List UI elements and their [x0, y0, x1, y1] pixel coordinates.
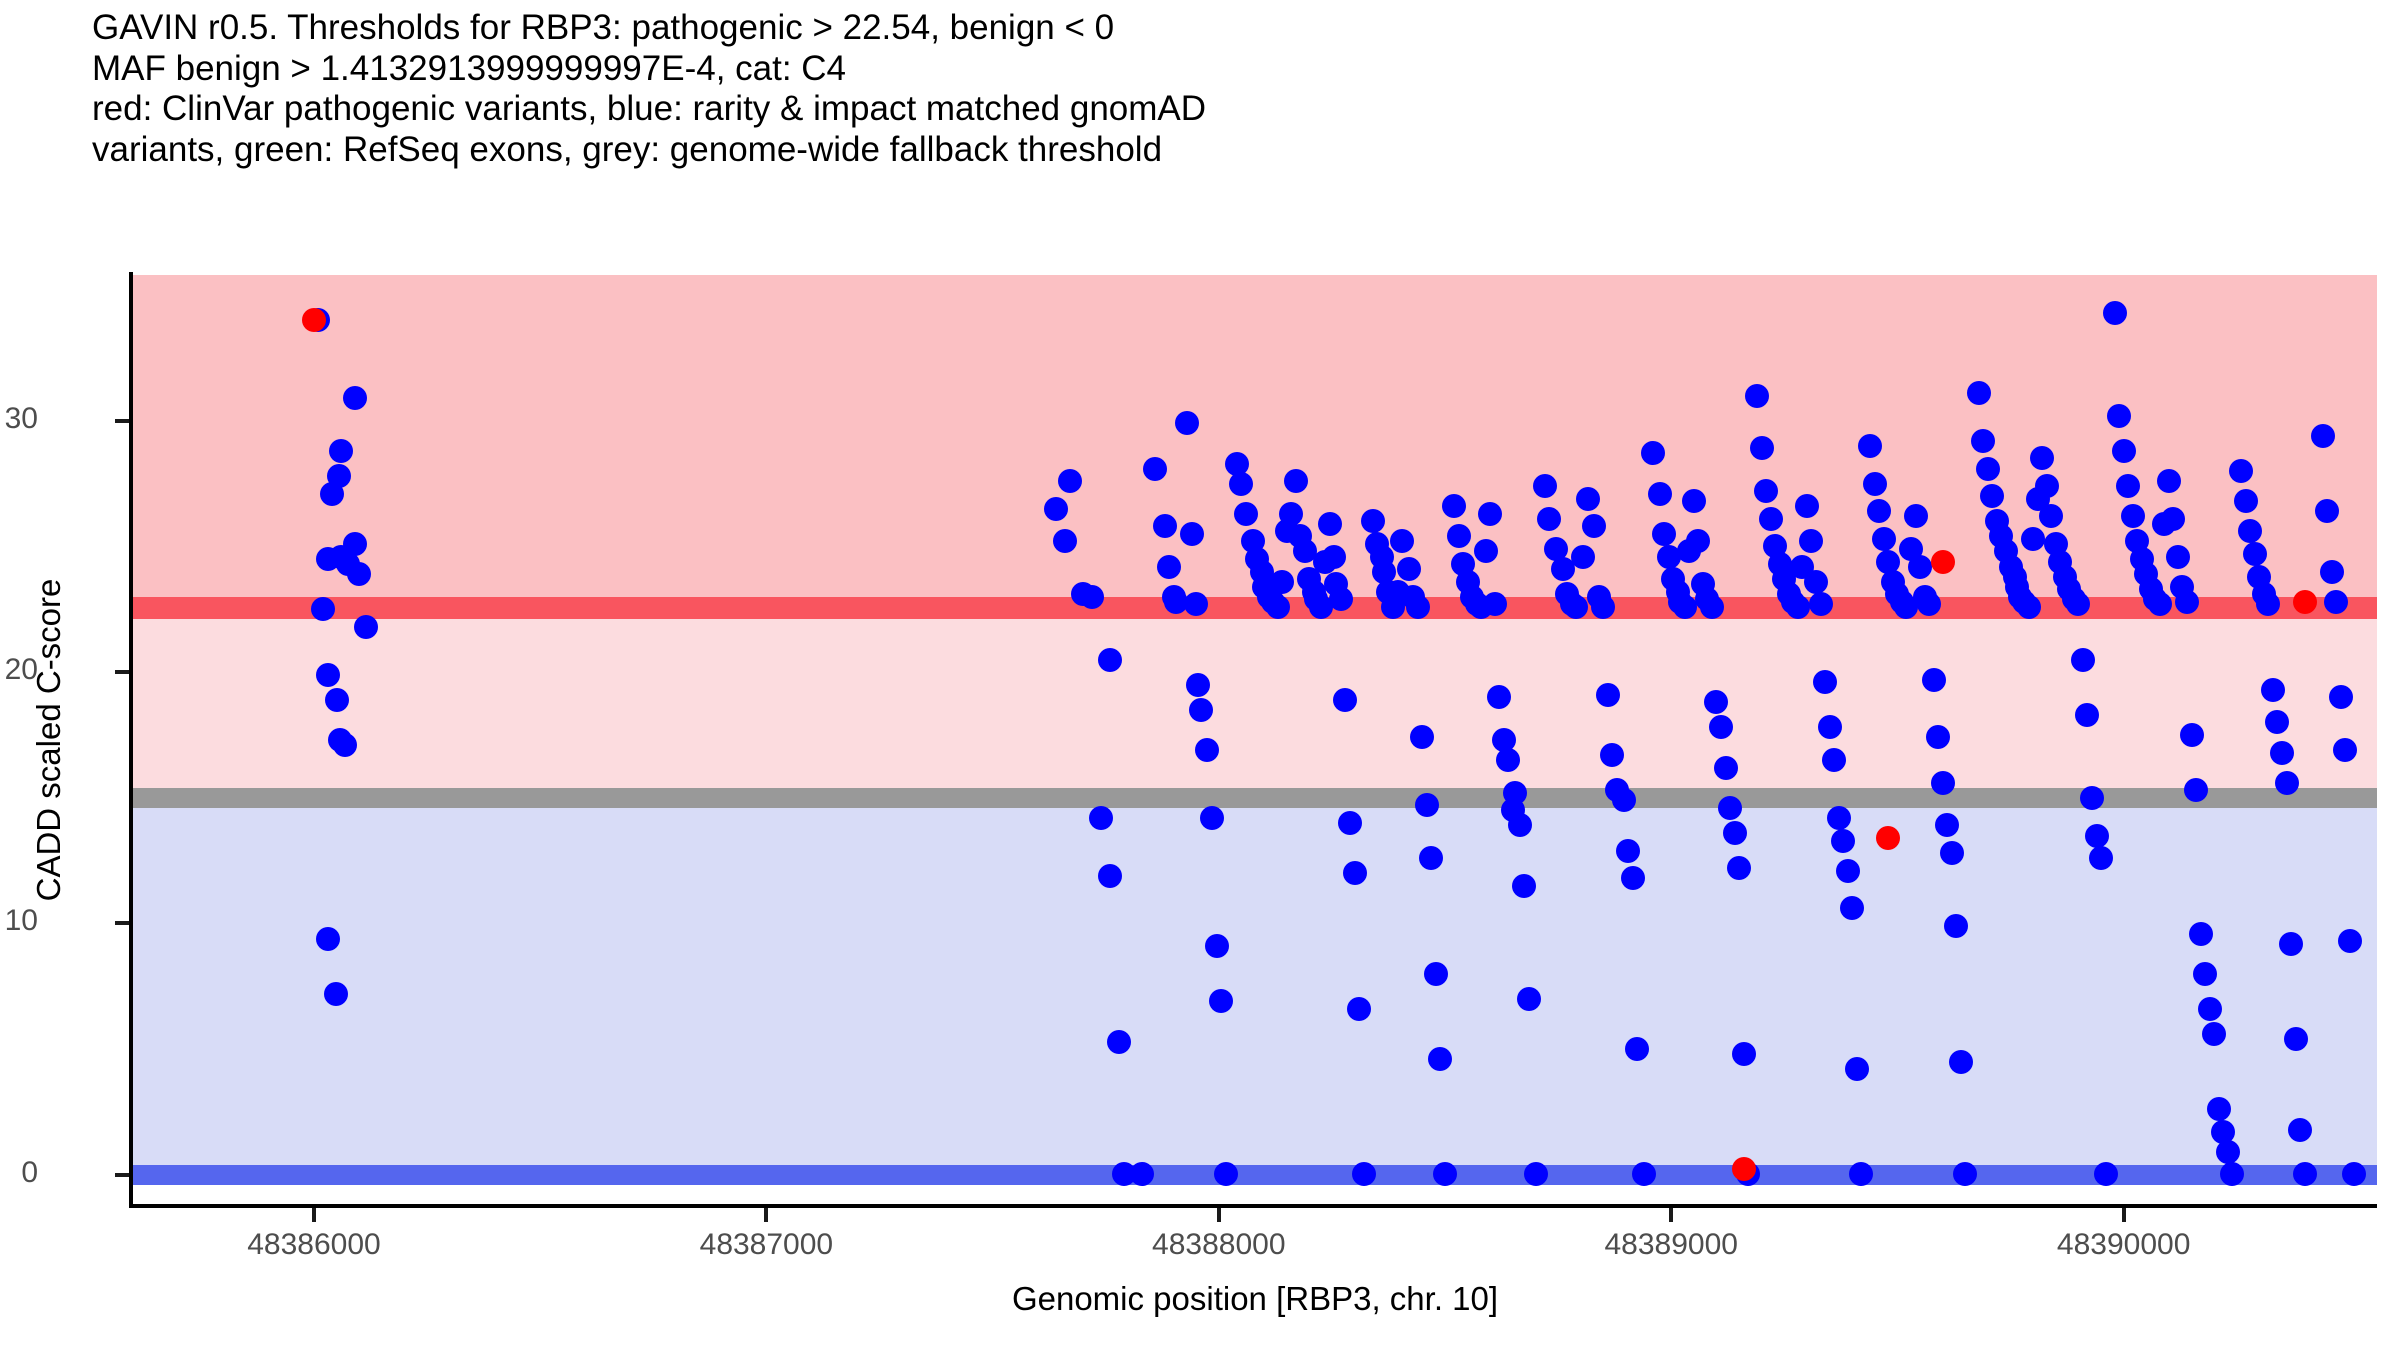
gnomad-variant-point [343, 386, 367, 410]
gnomad-variant-point [2103, 301, 2127, 325]
gnomad-variant-point [1922, 668, 1946, 692]
gnomad-variant-point [2080, 786, 2104, 810]
gnomad-variant-point [1279, 502, 1303, 526]
gnomad-variant-point [320, 482, 344, 506]
x-tick-label: 48388000 [1152, 1228, 1285, 1262]
gnomad-variant-point [316, 927, 340, 951]
gnomad-variant-point [1517, 987, 1541, 1011]
gnomad-variant-point [1700, 595, 1724, 619]
gnomad-variant-point [1648, 482, 1672, 506]
gnomad-variant-point [2071, 648, 2095, 672]
gnomad-variant-point [2035, 474, 2059, 498]
gnomad-variant-point [2121, 504, 2145, 528]
gnomad-variant-point [2021, 527, 2045, 551]
gnomad-variant-point [1044, 497, 1068, 521]
gnomad-variant-point [1157, 555, 1181, 579]
gnomad-variant-point [1266, 595, 1290, 619]
gnomad-variant-point [1347, 997, 1371, 1021]
clinvar-pathogenic-point [1931, 550, 1955, 574]
gnomad-variant-point [1180, 522, 1204, 546]
gnomad-variant-point [1361, 509, 1385, 533]
gnomad-variant-point [325, 688, 349, 712]
gnomad-variant-point [1512, 874, 1536, 898]
gnomad-variant-point [1621, 866, 1645, 890]
gnomad-variant-point [1571, 545, 1595, 569]
clinvar-pathogenic-point [2293, 590, 2317, 614]
title-line-3: red: ClinVar pathogenic variants, blue: … [92, 89, 2372, 130]
gnomad-variant-point [1591, 595, 1615, 619]
gnomad-variant-point [1872, 527, 1896, 551]
gnomad-variant-point [2270, 741, 2294, 765]
x-axis-title: Genomic position [RBP3, chr. 10] [133, 1280, 2377, 1318]
gnomad-variant-point [1338, 811, 1362, 835]
gnomad-variant-point [1673, 595, 1697, 619]
gnomad-variant-point [2311, 424, 2335, 448]
x-tick [2122, 1208, 2126, 1222]
gnomad-variant-point [2279, 932, 2303, 956]
gnomad-variant-point [1433, 1162, 1457, 1186]
gnomad-variant-point [354, 615, 378, 639]
gnomad-variant-point [1270, 570, 1294, 594]
gnomad-variant-point [1352, 1162, 1376, 1186]
x-tick-label: 48386000 [247, 1228, 380, 1262]
gnomad-variant-point [1098, 648, 1122, 672]
gnomad-variant-point [1483, 592, 1507, 616]
y-tick [115, 921, 129, 925]
gnomad-variant-point [1537, 507, 1561, 531]
gnomad-variant-point [329, 439, 353, 463]
chart-root: GAVIN r0.5. Thresholds for RBP3: pathoge… [0, 0, 2400, 1350]
gnomad-variant-point [1940, 841, 1964, 865]
gnomad-variant-point [1718, 796, 1742, 820]
gnomad-variant-point [1564, 595, 1588, 619]
gnomad-variant-point [2089, 846, 2113, 870]
gnomad-variant-point [333, 733, 357, 757]
gnomad-variant-point [1745, 384, 1769, 408]
gnomad-variant-point [1804, 570, 1828, 594]
gnomad-variant-point [1107, 1030, 1131, 1054]
gnomad-variant-point [1845, 1057, 1869, 1081]
gnomad-variant-point [2189, 922, 2213, 946]
gnomad-variant-point [2107, 404, 2131, 428]
gnomad-variant-point [2216, 1140, 2240, 1164]
title-line-2: MAF benign > 1.4132913999999997E-4, cat:… [92, 49, 2372, 90]
gnomad-variant-point [1189, 698, 1213, 722]
gnomad-variant-point [1200, 806, 1224, 830]
gnomad-variant-point [2284, 1027, 2308, 1051]
y-axis-line [129, 272, 133, 1208]
gnomad-variant-point [1836, 859, 1860, 883]
gnomad-variant-point [1786, 595, 1810, 619]
x-axis-line [129, 1204, 2377, 1208]
gnomad-variant-point [1284, 469, 1308, 493]
gnomad-variant-point [1931, 771, 1955, 795]
x-tick-label: 48390000 [2057, 1228, 2190, 1262]
gnomad-variant-point [1795, 494, 1819, 518]
gnomad-variant-point [1822, 748, 1846, 772]
gnomad-variant-point [1508, 813, 1532, 837]
gnomad-variant-point [2017, 595, 2041, 619]
clinvar-pathogenic-point [1732, 1157, 1756, 1181]
gnomad-variant-point [2157, 469, 2181, 493]
gnomad-variant-point [1322, 545, 1346, 569]
gnomad-variant-point [2175, 590, 2199, 614]
gnomad-variant-point [1759, 507, 1783, 531]
gnomad-variant-point [1098, 864, 1122, 888]
gnomad-variant-point [1205, 934, 1229, 958]
gnomad-variant-point [1478, 502, 1502, 526]
gnomad-variant-point [2193, 962, 2217, 986]
gnomad-variant-point [1576, 487, 1600, 511]
gnomad-variant-point [1130, 1162, 1154, 1186]
gnomad-variant-point [1533, 474, 1557, 498]
gnomad-variant-point [1949, 1050, 1973, 1074]
gnomad-variant-point [1058, 469, 1082, 493]
y-tick [115, 1173, 129, 1177]
title-line-4: variants, green: RefSeq exons, grey: gen… [92, 130, 2372, 171]
gnomad-variant-point [1723, 821, 1747, 845]
gnomad-variant-point [2220, 1162, 2244, 1186]
gnomad-variant-point [324, 982, 348, 1006]
gnomad-variant-point [1424, 962, 1448, 986]
gnomad-variant-point [2275, 771, 2299, 795]
x-tick [1669, 1208, 1673, 1222]
gnomad-variant-point [1849, 1162, 1873, 1186]
gnomad-variant-point [1863, 472, 1887, 496]
gnomad-variant-point [1612, 788, 1636, 812]
x-tick [312, 1208, 316, 1222]
gnomad-variant-point [2198, 997, 2222, 1021]
gnomad-variant-point [2148, 592, 2172, 616]
gnomad-variant-point [2243, 542, 2267, 566]
gnomad-variant-point [1318, 512, 1342, 536]
plot-area [133, 275, 2377, 1205]
gnomad-variant-point [1089, 806, 1113, 830]
gnomad-variant-point [316, 663, 340, 687]
x-tick-label: 48389000 [1604, 1228, 1737, 1262]
gnomad-variant-point [1714, 756, 1738, 780]
gnomad-variant-point [2094, 1162, 2118, 1186]
gnomad-variant-point [1397, 557, 1421, 581]
gnomad-variant-point [1809, 592, 1833, 616]
gnomad-variant-point [2324, 590, 2348, 614]
gnomad-variant-point [1976, 457, 2000, 481]
vous-band [133, 608, 2377, 798]
gnomad-variant-point [1503, 781, 1527, 805]
x-tick-label: 48387000 [700, 1228, 833, 1262]
gnomad-variant-point [1827, 806, 1851, 830]
gnomad-variant-point [2329, 685, 2353, 709]
chart-title-block: GAVIN r0.5. Thresholds for RBP3: pathoge… [92, 8, 2372, 170]
gnomad-variant-point [1953, 1162, 1977, 1186]
gnomad-variant-point [1596, 683, 1620, 707]
gnomad-variant-point [2293, 1162, 2317, 1186]
gnomad-variant-point [1904, 504, 1928, 528]
fallback-threshold-line [133, 788, 2377, 808]
gnomad-variant-point [1343, 861, 1367, 885]
gnomad-variant-point [2085, 824, 2109, 848]
gnomad-variant-point [2166, 545, 2190, 569]
gnomad-variant-point [2342, 1162, 2366, 1186]
gnomad-variant-point [1750, 436, 1774, 460]
gnomad-variant-point [2180, 723, 2204, 747]
gnomad-variant-point [1234, 502, 1258, 526]
gnomad-variant-point [2112, 439, 2136, 463]
gnomad-variant-point [1818, 715, 1842, 739]
gnomad-variant-point [2320, 560, 2344, 584]
gnomad-variant-point [1632, 1162, 1656, 1186]
benign-threshold-line [133, 1165, 2377, 1185]
gnomad-variant-point [2207, 1097, 2231, 1121]
y-tick [115, 670, 129, 674]
x-tick [764, 1208, 768, 1222]
gnomad-variant-point [2288, 1118, 2312, 1142]
x-tick [1217, 1208, 1221, 1222]
gnomad-variant-point [1524, 1162, 1548, 1186]
gnomad-variant-point [2338, 929, 2362, 953]
gnomad-variant-point [1229, 472, 1253, 496]
gnomad-variant-point [1143, 457, 1167, 481]
gnomad-variant-point [1447, 524, 1471, 548]
gnomad-variant-point [1186, 673, 1210, 697]
gnomad-variant-point [1153, 514, 1177, 538]
gnomad-variant-point [2234, 489, 2258, 513]
gnomad-variant-point [1214, 1162, 1238, 1186]
y-tick [115, 419, 129, 423]
gnomad-variant-point [1682, 489, 1706, 513]
gnomad-variant-point [1831, 829, 1855, 853]
gnomad-variant-point [1967, 381, 1991, 405]
gnomad-variant-point [1080, 585, 1104, 609]
benign-band [133, 798, 2377, 1175]
gnomad-variant-point [1616, 839, 1640, 863]
title-line-1: GAVIN r0.5. Thresholds for RBP3: pathoge… [92, 8, 2372, 49]
y-axis-title: CADD scaled C-score [30, 275, 68, 1205]
gnomad-variant-point [343, 532, 367, 556]
gnomad-variant-point [2261, 678, 2285, 702]
gnomad-variant-point [1732, 1042, 1756, 1066]
gnomad-variant-point [1908, 555, 1932, 579]
gnomad-variant-point [1406, 595, 1430, 619]
